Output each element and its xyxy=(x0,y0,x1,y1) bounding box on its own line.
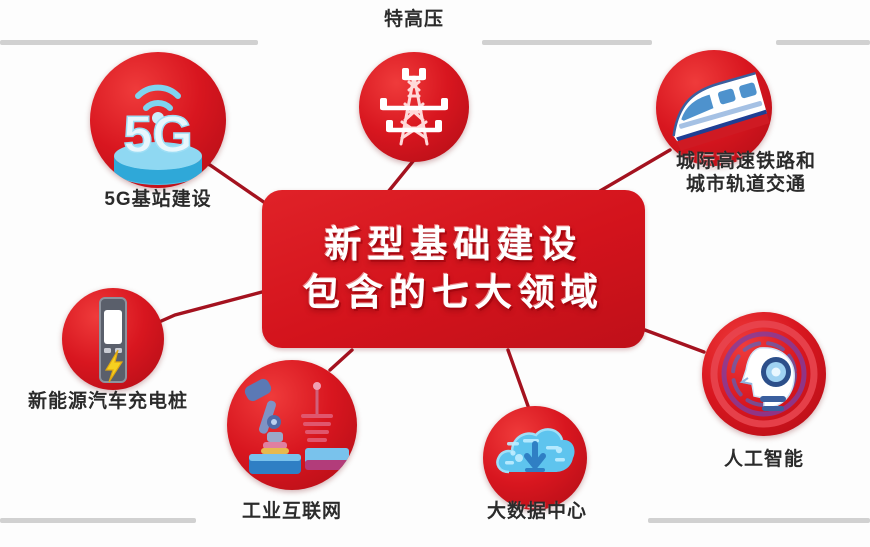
node-iiot-label: 工业互联网 xyxy=(217,500,367,523)
data-cloud-icon xyxy=(483,406,587,510)
connector-uhv xyxy=(388,160,414,192)
node-5g-label: 5G基站建设 xyxy=(78,188,238,211)
node-rail-label: 城际高速铁路和 城市轨道交通 xyxy=(646,150,846,196)
node-rail-label-line-2: 城市轨道交通 xyxy=(646,173,846,196)
high-speed-train-icon xyxy=(656,50,772,166)
node-rail-bubble[interactable] xyxy=(656,50,772,166)
svg-text:5G: 5G xyxy=(123,106,192,164)
node-bigdata-bubble[interactable] xyxy=(483,406,587,510)
5g-tower-icon: 5G xyxy=(90,52,226,188)
node-ev-bubble[interactable] xyxy=(62,288,164,390)
node-5g-bubble[interactable]: 5G xyxy=(90,52,226,188)
power-pylon-icon xyxy=(359,52,469,162)
connector-bigdata xyxy=(508,350,528,406)
infographic-canvas: 新型基础建设 包含的七大领域 5G 5G基站建设 xyxy=(0,0,870,547)
center-hub-plaque: 新型基础建设 包含的七大领域 xyxy=(262,190,645,348)
node-ai-label: 人工智能 xyxy=(694,448,834,471)
node-uhv-bubble[interactable] xyxy=(359,52,469,162)
node-iiot-bubble[interactable] xyxy=(227,360,357,490)
node-uhv-label: 特高压 xyxy=(354,8,474,31)
robot-arm-factory-icon xyxy=(227,360,357,490)
center-title-line-2: 包含的七大领域 xyxy=(303,271,604,315)
node-rail-label-line-1: 城际高速铁路和 xyxy=(646,150,846,173)
center-title-line-1: 新型基础建设 xyxy=(325,223,583,267)
ev-charging-pile-icon xyxy=(62,288,164,390)
connector-ai xyxy=(645,330,704,352)
ai-robot-head-icon xyxy=(702,312,826,436)
node-ev-label: 新能源汽车充电桩 xyxy=(2,390,214,413)
node-bigdata-label: 大数据中心 xyxy=(462,500,612,523)
connector-ev xyxy=(150,292,262,326)
node-ai-bubble[interactable] xyxy=(702,312,826,436)
